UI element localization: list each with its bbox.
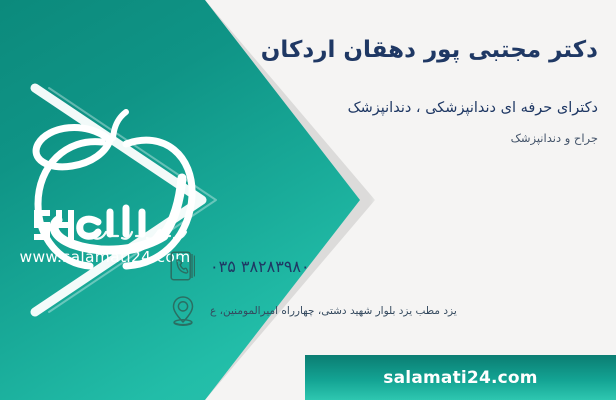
footer-website: salamati24.com bbox=[383, 368, 537, 388]
doctor-subspecialty: جراح و دندانپزشک bbox=[168, 130, 598, 146]
doctor-specialty: دکترای حرفه ای دندانپزشکی ، دندانپزشک bbox=[168, 98, 598, 118]
doctor-name: دکتر مجتبی پور دهقان اردکان bbox=[168, 36, 598, 66]
card-content: دکتر مجتبی پور دهقان اردکان دکترای حرفه … bbox=[168, 0, 598, 400]
business-card: www.salamati24.com دکتر مجتبی پور دهقان … bbox=[0, 0, 616, 400]
footer-bar: salamati24.com bbox=[305, 355, 616, 400]
map-pin-icon bbox=[168, 295, 198, 327]
address-text: یزد مطب یزد بلوار شهید دشتی، چهارراه امی… bbox=[210, 305, 457, 317]
apple-stem bbox=[113, 112, 126, 138]
phone-row: ۰۳۵ ۳۸۲۸۳۹۸۰ bbox=[168, 250, 598, 282]
phone-number: ۰۳۵ ۳۸۲۸۳۹۸۰ bbox=[210, 257, 310, 276]
address-row: یزد مطب یزد بلوار شهید دشتی، چهارراه امی… bbox=[168, 295, 598, 327]
phonebook-icon bbox=[168, 250, 198, 282]
